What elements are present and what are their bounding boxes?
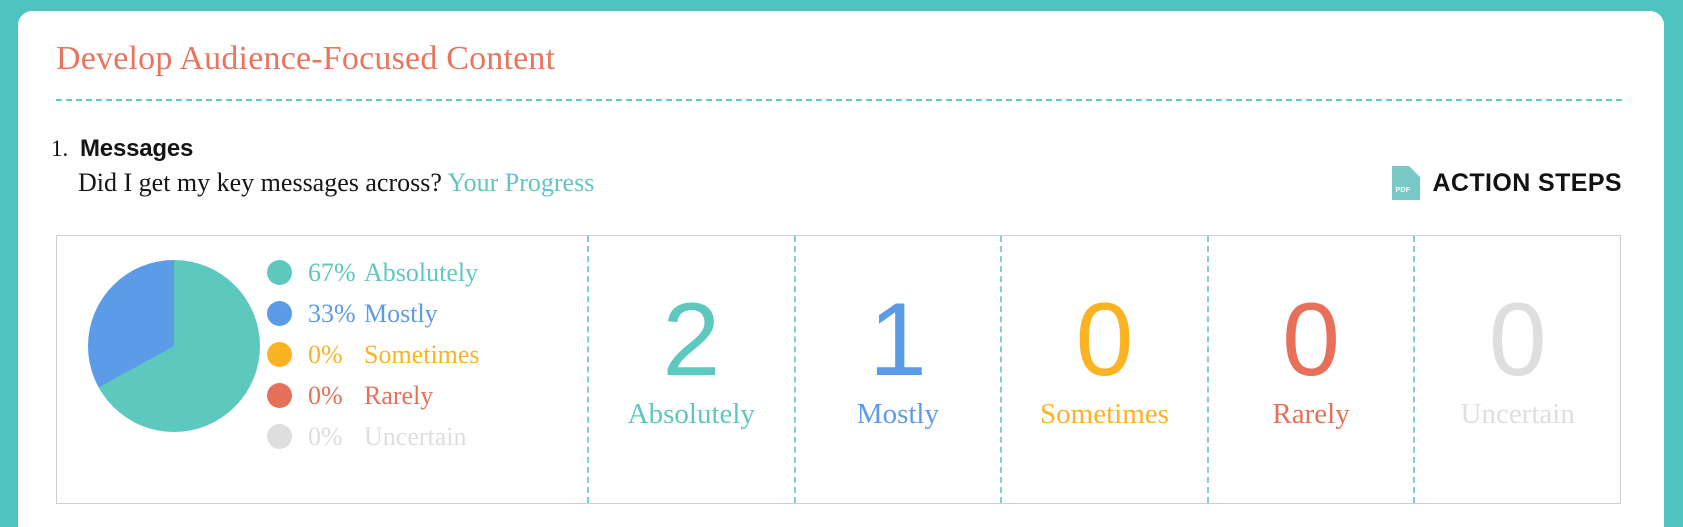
your-progress-link[interactable]: Your Progress [447, 168, 594, 197]
legend-label: Absolutely [364, 258, 478, 288]
count-label: Uncertain [1461, 398, 1575, 431]
legend-row: 0%Rarely [267, 375, 480, 416]
results-panel: 67%Absolutely33%Mostly0%Sometimes0%Rarel… [56, 235, 1621, 504]
legend-percent: 0% [292, 381, 364, 411]
page-background: Develop Audience-Focused Content 1. Mess… [0, 0, 1683, 527]
legend-row: 0%Sometimes [267, 334, 480, 375]
legend-row: 33%Mostly [267, 293, 480, 334]
count-label: Absolutely [628, 398, 755, 431]
pie-chart [88, 260, 260, 432]
legend-color-dot-icon [267, 260, 292, 285]
pdf-icon-fold [1409, 166, 1420, 177]
count-label: Sometimes [1040, 398, 1169, 431]
count-column: 0Rarely [1207, 236, 1414, 503]
count-label: Rarely [1272, 398, 1349, 431]
question-prompt: Did I get my key messages across? Your P… [78, 168, 594, 198]
count-value: 0 [1282, 290, 1340, 392]
pie-chart-zone: 67%Absolutely33%Mostly0%Sometimes0%Rarel… [57, 236, 587, 503]
legend-color-dot-icon [267, 424, 292, 449]
legend-percent: 33% [292, 299, 364, 329]
question-number: 1. [51, 136, 68, 162]
pie-legend: 67%Absolutely33%Mostly0%Sometimes0%Rarel… [267, 252, 480, 457]
count-column: 0Uncertain [1413, 236, 1620, 503]
action-steps-button[interactable]: PDF ACTION STEPS [1392, 166, 1622, 200]
count-column: 0Sometimes [1000, 236, 1207, 503]
count-column: 2Absolutely [587, 236, 794, 503]
legend-label: Uncertain [364, 422, 467, 452]
legend-color-dot-icon [267, 342, 292, 367]
action-steps-label: ACTION STEPS [1432, 169, 1622, 198]
pdf-icon-label: PDF [1395, 187, 1410, 194]
count-value: 0 [1489, 290, 1547, 392]
legend-percent: 0% [292, 422, 364, 452]
page-title: Develop Audience-Focused Content [56, 40, 555, 78]
count-columns: 2Absolutely1Mostly0Sometimes0Rarely0Unce… [587, 236, 1620, 503]
count-value: 1 [869, 290, 927, 392]
legend-label: Mostly [364, 299, 438, 329]
legend-color-dot-icon [267, 301, 292, 326]
question-title: Messages [80, 135, 193, 163]
count-label: Mostly [857, 398, 939, 431]
count-value: 0 [1076, 290, 1134, 392]
legend-percent: 67% [292, 258, 364, 288]
legend-percent: 0% [292, 340, 364, 370]
legend-row: 0%Uncertain [267, 416, 480, 457]
title-divider [56, 99, 1622, 101]
content-card: Develop Audience-Focused Content 1. Mess… [18, 11, 1664, 527]
count-value: 2 [662, 290, 720, 392]
pdf-icon: PDF [1392, 166, 1420, 200]
legend-row: 67%Absolutely [267, 252, 480, 293]
question-prompt-text: Did I get my key messages across? [78, 168, 442, 197]
legend-label: Rarely [364, 381, 433, 411]
legend-color-dot-icon [267, 383, 292, 408]
count-column: 1Mostly [794, 236, 1001, 503]
legend-label: Sometimes [364, 340, 480, 370]
